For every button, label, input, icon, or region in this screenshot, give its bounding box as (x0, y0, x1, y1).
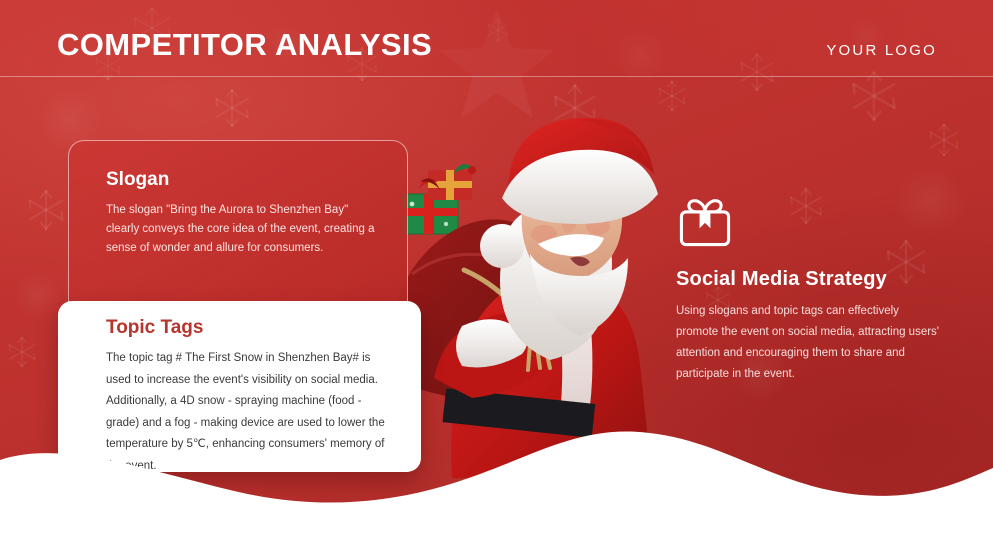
gift-boxes (402, 164, 476, 234)
topic-tags-card-title: Topic Tags (106, 317, 203, 339)
white-wave-divider (0, 398, 993, 558)
logo-placeholder: YOUR LOGO (826, 42, 937, 59)
hat-pompom (480, 224, 524, 268)
slogan-card[interactable]: Slogan The slogan "Bring the Aurora to S… (68, 140, 408, 320)
gift-icon (676, 192, 734, 250)
social-media-strategy-title: Social Media Strategy (676, 268, 946, 291)
social-media-strategy-body: Using slogans and topic tags can effecti… (676, 301, 941, 385)
slogan-card-title: Slogan (106, 169, 169, 191)
header-divider (0, 76, 993, 77)
slogan-card-body: The slogan "Bring the Aurora to Shenzhen… (106, 201, 382, 258)
page-title: COMPETITOR ANALYSIS (57, 27, 432, 63)
slide-canvas: COMPETITOR ANALYSIS YOUR LOGO (0, 0, 993, 558)
social-media-strategy-block: Social Media Strategy Using slogans and … (676, 192, 946, 385)
